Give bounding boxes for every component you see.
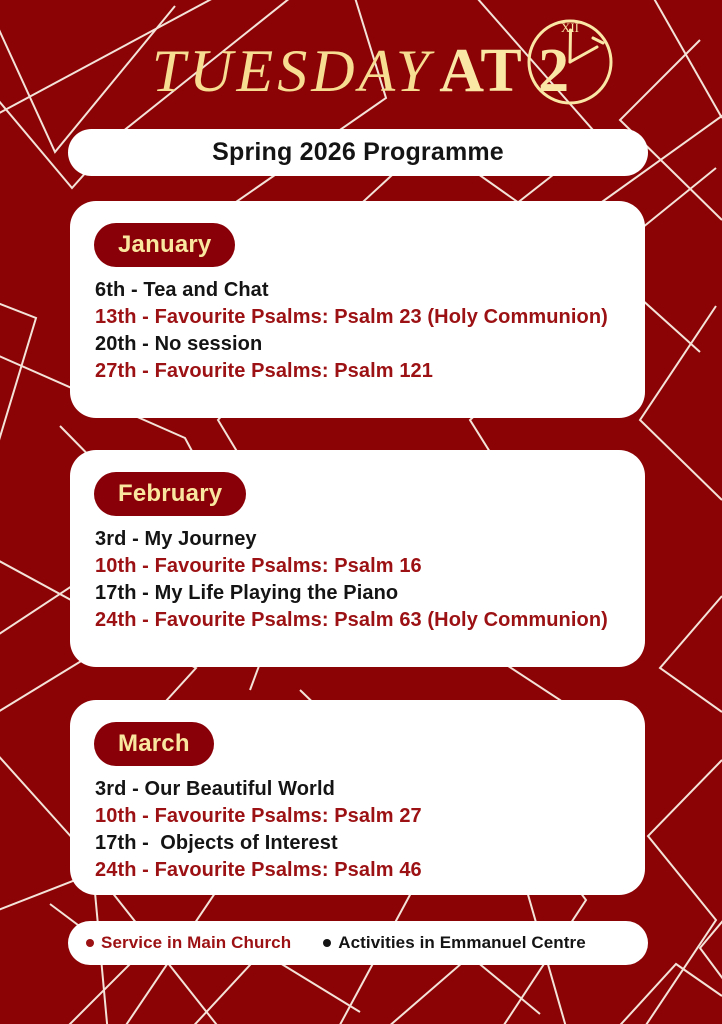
legend-item-main-church: Service in Main Church — [86, 933, 291, 953]
programme-subtitle-text: Spring 2026 Programme — [212, 138, 504, 167]
month-entries-march: 3rd - Our Beautiful World 10th - Favouri… — [95, 776, 623, 884]
schedule-entry: 10th - Favourite Psalms: Psalm 16 — [95, 553, 623, 580]
schedule-entry: 24th - Favourite Psalms: Psalm 46 — [95, 857, 623, 884]
bullet-dot-icon — [323, 939, 331, 947]
month-badge-label: March — [118, 730, 190, 758]
month-badge-label: February — [118, 480, 222, 508]
month-badge-march: March — [94, 722, 214, 766]
clock-icon: XII — [521, 12, 621, 112]
schedule-entry: 20th - No session — [95, 331, 623, 358]
legend-pill: Service in Main Church Activities in Emm… — [68, 921, 648, 965]
bullet-dot-icon — [86, 939, 94, 947]
month-entries-january: 6th - Tea and Chat 13th - Favourite Psal… — [95, 277, 623, 385]
month-entries-february: 3rd - My Journey 10th - Favourite Psalms… — [95, 526, 623, 634]
poster-header: TUESDAYAT 2 XII — [0, 0, 722, 128]
schedule-entry: 3rd - My Journey — [95, 526, 623, 553]
schedule-entry: 24th - Favourite Psalms: Psalm 63 (Holy … — [95, 607, 623, 634]
legend-label: Service in Main Church — [101, 933, 291, 953]
schedule-entry: 17th - My Life Playing the Piano — [95, 580, 623, 607]
schedule-entry: 3rd - Our Beautiful World — [95, 776, 623, 803]
month-card-january: January 6th - Tea and Chat 13th - Favour… — [70, 201, 645, 418]
schedule-entry: 17th - Objects of Interest — [95, 830, 623, 857]
month-card-february: February 3rd - My Journey 10th - Favouri… — [70, 450, 645, 667]
clock-numeral-xii: XII — [561, 20, 579, 35]
schedule-entry: 27th - Favourite Psalms: Psalm 121 — [95, 358, 623, 385]
schedule-entry: 13th - Favourite Psalms: Psalm 23 (Holy … — [95, 304, 623, 331]
legend-label: Activities in Emmanuel Centre — [338, 933, 586, 953]
poster-root: TUESDAYAT 2 XII Spring 2026 Programme Ja… — [0, 0, 722, 1024]
month-badge-label: January — [118, 231, 211, 259]
month-badge-february: February — [94, 472, 246, 516]
schedule-entry: 10th - Favourite Psalms: Psalm 27 — [95, 803, 623, 830]
title-tuesday-word: TUESDAY — [152, 38, 433, 104]
programme-subtitle-pill: Spring 2026 Programme — [68, 129, 648, 176]
month-card-march: March 3rd - Our Beautiful World 10th - F… — [70, 700, 645, 895]
month-badge-january: January — [94, 223, 235, 267]
legend-item-emmanuel-centre: Activities in Emmanuel Centre — [323, 933, 586, 953]
schedule-entry: 6th - Tea and Chat — [95, 277, 623, 304]
